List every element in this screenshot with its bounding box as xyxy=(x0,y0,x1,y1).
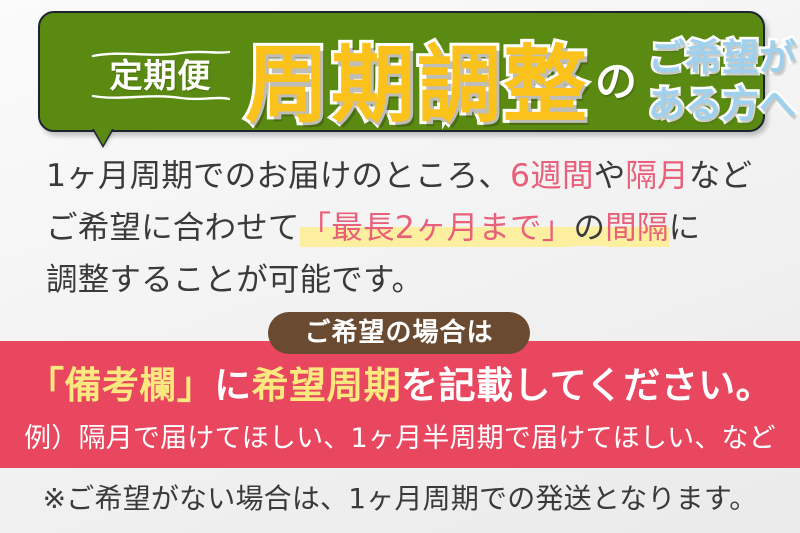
body-line-1-part-c: や xyxy=(594,158,626,194)
subscription-badge-label: 定期便 xyxy=(110,59,212,92)
instruction-example-line: 例）隔月で届けてほしい、1ヶ月半周期で届けてほしい、など xyxy=(0,420,800,458)
body-line-2-highlight-max-two-months: 「最長2ヶ月まで」 xyxy=(300,210,574,247)
instruction-part-d: を記載してください。 xyxy=(401,364,773,407)
title-particle: の xyxy=(595,61,637,103)
body-line-1-part-a: 1ヶ月周期でのお届けのところ、 xyxy=(46,158,510,194)
instruction-pill-label: ご希望の場合は xyxy=(304,320,493,346)
target-audience-line-1: ご希望が xyxy=(648,35,800,80)
page-title: 周期調整 xyxy=(245,25,589,145)
instruction-part-b: に xyxy=(214,364,251,407)
body-copy: 1ヶ月周期でのお届けのところ、6週間や隔月など ご希望に合わせて「最長2ヶ月まで… xyxy=(46,150,762,306)
body-line-1: 1ヶ月周期でのお届けのところ、6週間や隔月など xyxy=(46,150,762,202)
target-audience-note: ご希望が ある方へ xyxy=(648,35,800,127)
instruction-emphasis-remarks-field: 「備考欄」 xyxy=(27,364,214,407)
body-line-3: 調整することが可能です。 xyxy=(46,254,762,306)
body-line-1-emphasis-six-weeks: 6週間 xyxy=(510,158,594,194)
body-line-1-part-e: など xyxy=(689,158,752,194)
body-line-2-highlight-interval: 間隔 xyxy=(605,210,668,247)
body-line-2-part-c: の xyxy=(573,210,605,246)
wave-divider-bottom-icon xyxy=(91,92,231,102)
speech-bubble-tail xyxy=(94,129,112,145)
body-line-2-part-e: に xyxy=(669,210,701,246)
instruction-emphasis-desired-cycle: 希望周期 xyxy=(252,364,402,407)
instruction-pill-badge: ご希望の場合は xyxy=(268,312,530,354)
body-line-2-part-a: ご希望に合わせて xyxy=(46,210,300,246)
header-banner: 定期便 周期調整 の ご希望が ある方へ xyxy=(38,11,765,132)
footer-note: ※ご希望がない場合は、1ヶ月周期での発送となります。 xyxy=(0,478,800,520)
instruction-main-line: 「備考欄」に希望周期を記載してください。 xyxy=(0,362,800,410)
target-audience-line-2: ある方へ xyxy=(648,82,800,127)
body-line-2: ご希望に合わせて「最長2ヶ月まで」の間隔に xyxy=(46,202,762,254)
body-line-1-emphasis-every-other-month: 隔月 xyxy=(625,158,688,194)
subscription-badge: 定期便 xyxy=(88,37,233,113)
